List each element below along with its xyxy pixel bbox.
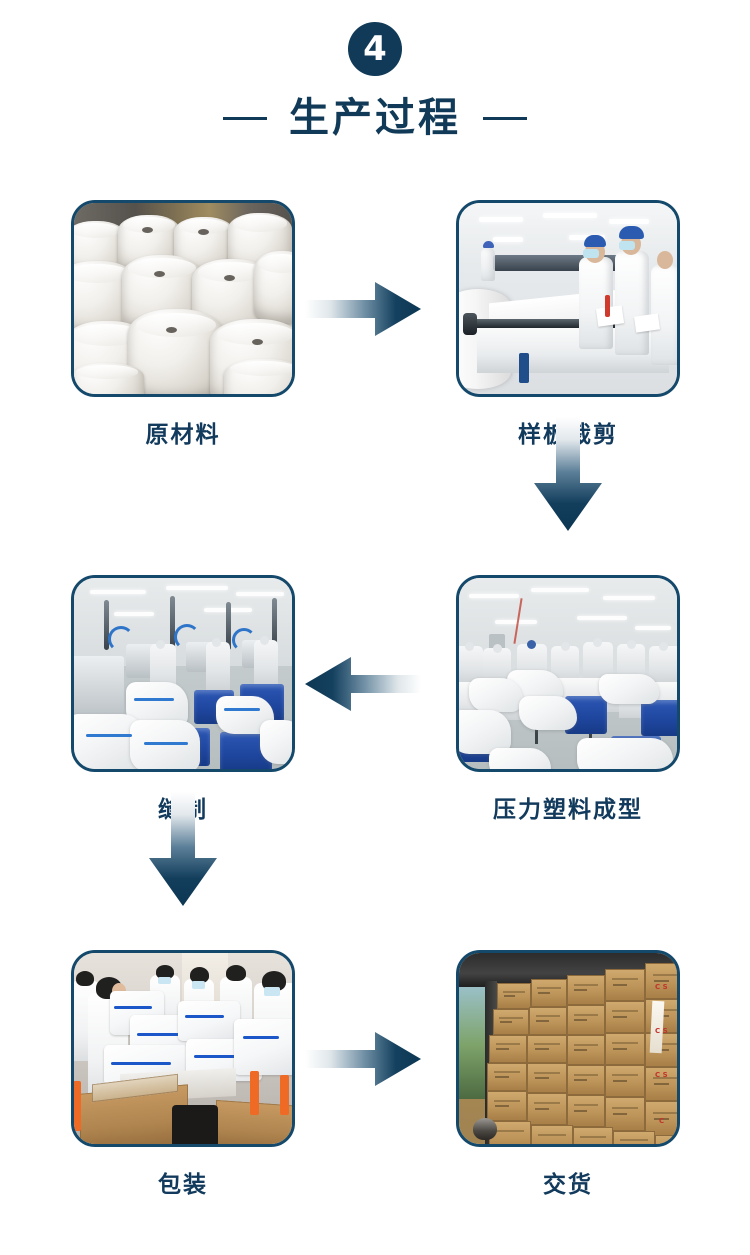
section-number-badge: 4 — [348, 22, 402, 76]
photo-factory-floor-sewing-hall — [459, 578, 677, 769]
arrow-cutting-to-molding-icon — [528, 417, 608, 535]
photo-frame-raw-material — [71, 200, 295, 397]
step-card-raw-material[interactable]: 原材料 — [71, 200, 295, 447]
title-rule-right — [483, 117, 527, 120]
step-card-delivery[interactable]: C S C S C S C 交货 — [456, 950, 680, 1197]
step-card-sewing[interactable]: 缝制 — [71, 575, 295, 822]
step-card-pressure-molding[interactable]: 压力塑料成型 — [456, 575, 680, 822]
photo-seam-taping-machines-operators — [74, 578, 292, 769]
process-flow: 原材料 — [0, 180, 750, 1240]
photo-workers-packing-coveralls-into-cartons — [74, 953, 292, 1144]
step-card-packaging[interactable]: 包装 — [71, 950, 295, 1197]
step-label-packaging: 包装 — [71, 1174, 295, 1197]
flow-row-2: 缝制 — [0, 555, 750, 930]
step-label-pressure-molding: 压力塑料成型 — [456, 799, 680, 822]
photo-cartons-stacked-in-delivery-truck: C S C S C S C — [459, 953, 677, 1144]
arrow-sewing-to-packing-icon — [143, 792, 223, 910]
arrow-packing-to-delivery-icon — [305, 1028, 421, 1090]
photo-frame-packaging — [71, 950, 295, 1147]
title-rule-left — [223, 117, 267, 120]
flow-row-1: 原材料 — [0, 180, 750, 555]
section-header: 4 生产过程 — [0, 0, 750, 180]
flow-row-3: 包装 — [0, 930, 750, 1240]
page-title: 生产过程 — [289, 98, 461, 138]
step-label-delivery: 交货 — [456, 1174, 680, 1197]
title-row: 生产过程 — [223, 98, 527, 138]
step-label-raw-material: 原材料 — [71, 424, 295, 447]
arrow-raw-to-cutting-icon — [305, 278, 421, 340]
step-card-pattern-cutting[interactable]: 样板裁剪 — [456, 200, 680, 447]
production-process-infographic: 4 生产过程 — [0, 0, 750, 1255]
photo-rolls-of-nonwoven-fabric — [74, 203, 292, 394]
photo-frame-delivery: C S C S C S C — [456, 950, 680, 1147]
photo-frame-pressure-molding — [456, 575, 680, 772]
arrow-molding-to-sewing-icon — [305, 653, 421, 715]
photo-workers-inspecting-fabric-cutting-line — [459, 203, 677, 394]
photo-frame-sewing — [71, 575, 295, 772]
photo-frame-pattern-cutting — [456, 200, 680, 397]
